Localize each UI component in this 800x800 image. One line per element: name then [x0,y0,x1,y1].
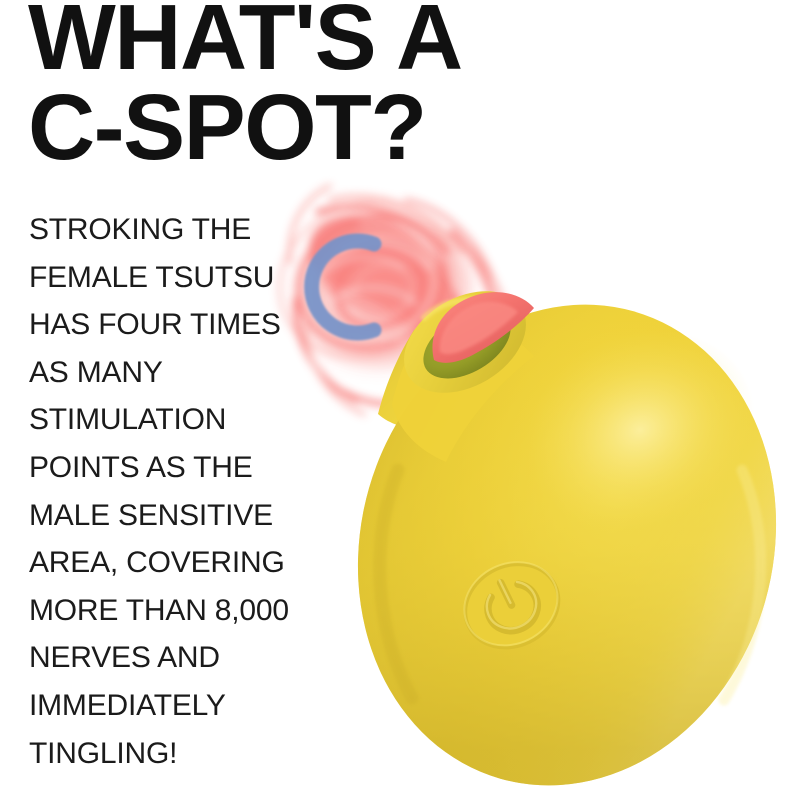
body-copy: STROKING THE FEMALE TSUTSU HAS FOUR TIME… [29,206,319,777]
device-body-group [302,255,800,800]
device-shell [302,255,800,800]
nozzle-opening [386,270,544,413]
tongue-element [432,292,534,363]
c-marker-icon [312,241,374,333]
power-icon [478,572,545,639]
power-button [450,547,572,663]
poster-canvas: WHAT'S A C-SPOT? STROKING THE FEMALE TSU… [0,0,800,800]
page-title: WHAT'S A C-SPOT? [28,0,568,172]
